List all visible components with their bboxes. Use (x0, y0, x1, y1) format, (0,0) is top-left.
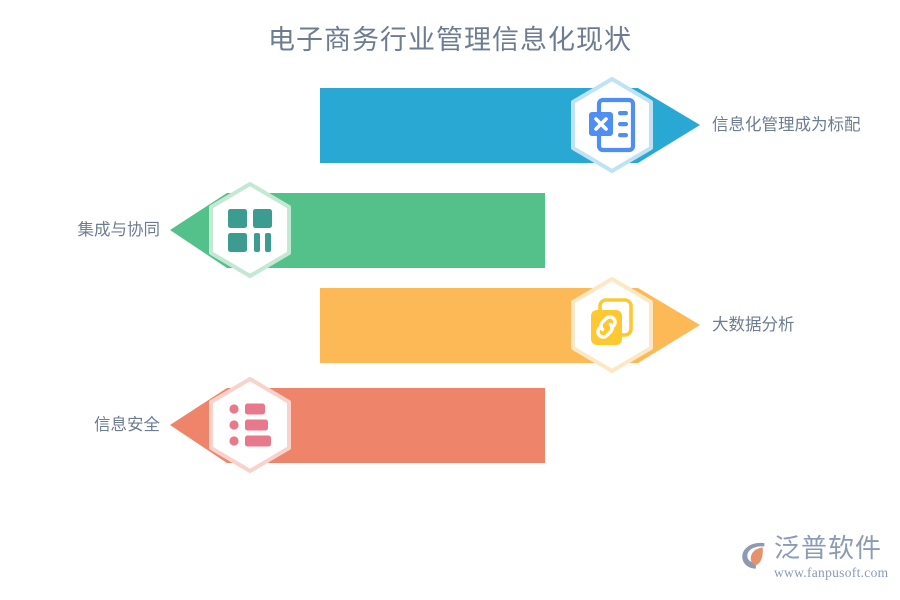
arrow-shape-4-icon (0, 380, 900, 490)
process-row-3: 大数据分析 (0, 280, 900, 390)
row-label-4: 信息安全 (94, 417, 160, 434)
arrow-shape-3-icon (0, 280, 900, 390)
icon-badge-1[interactable] (569, 77, 655, 173)
row-label-3: 大数据分析 (712, 317, 795, 334)
process-row-2: 集成与协同 (0, 185, 900, 295)
watermark-brand: 泛普软件 (774, 534, 882, 564)
bulleted-list-icon (207, 377, 293, 473)
watermark-url: www.fanpusoft.com (774, 565, 888, 581)
arrow-bar-3[interactable] (0, 280, 900, 390)
arrow-bar-1[interactable] (0, 80, 900, 190)
icon-badge-2[interactable] (207, 182, 293, 278)
arrow-bar-2[interactable] (0, 185, 900, 295)
icon-badge-3[interactable] (569, 277, 655, 373)
process-row-1: 信息化管理成为标配 (0, 80, 900, 190)
row-label-2: 集成与协同 (78, 222, 161, 239)
arrow-shape-1-icon (0, 80, 900, 190)
row-label-1: 信息化管理成为标配 (712, 117, 861, 134)
watermark: 泛普软件 www.fanpusoft.com (732, 532, 892, 588)
grid-dashboard-icon (207, 182, 293, 278)
icon-badge-4[interactable] (207, 377, 293, 473)
process-row-4: 信息安全 (0, 380, 900, 490)
page-title: 电子商务行业管理信息化现状 (0, 18, 900, 57)
link-copy-icon (569, 277, 655, 373)
fanpu-swoosh-logo-icon (738, 538, 772, 572)
arrow-bar-4[interactable] (0, 380, 900, 490)
spreadsheet-document-icon (569, 77, 655, 173)
infographic-canvas: 电子商务行业管理信息化现状 信息化管理成为标配 (0, 0, 900, 600)
arrow-shape-2-icon (0, 185, 900, 295)
